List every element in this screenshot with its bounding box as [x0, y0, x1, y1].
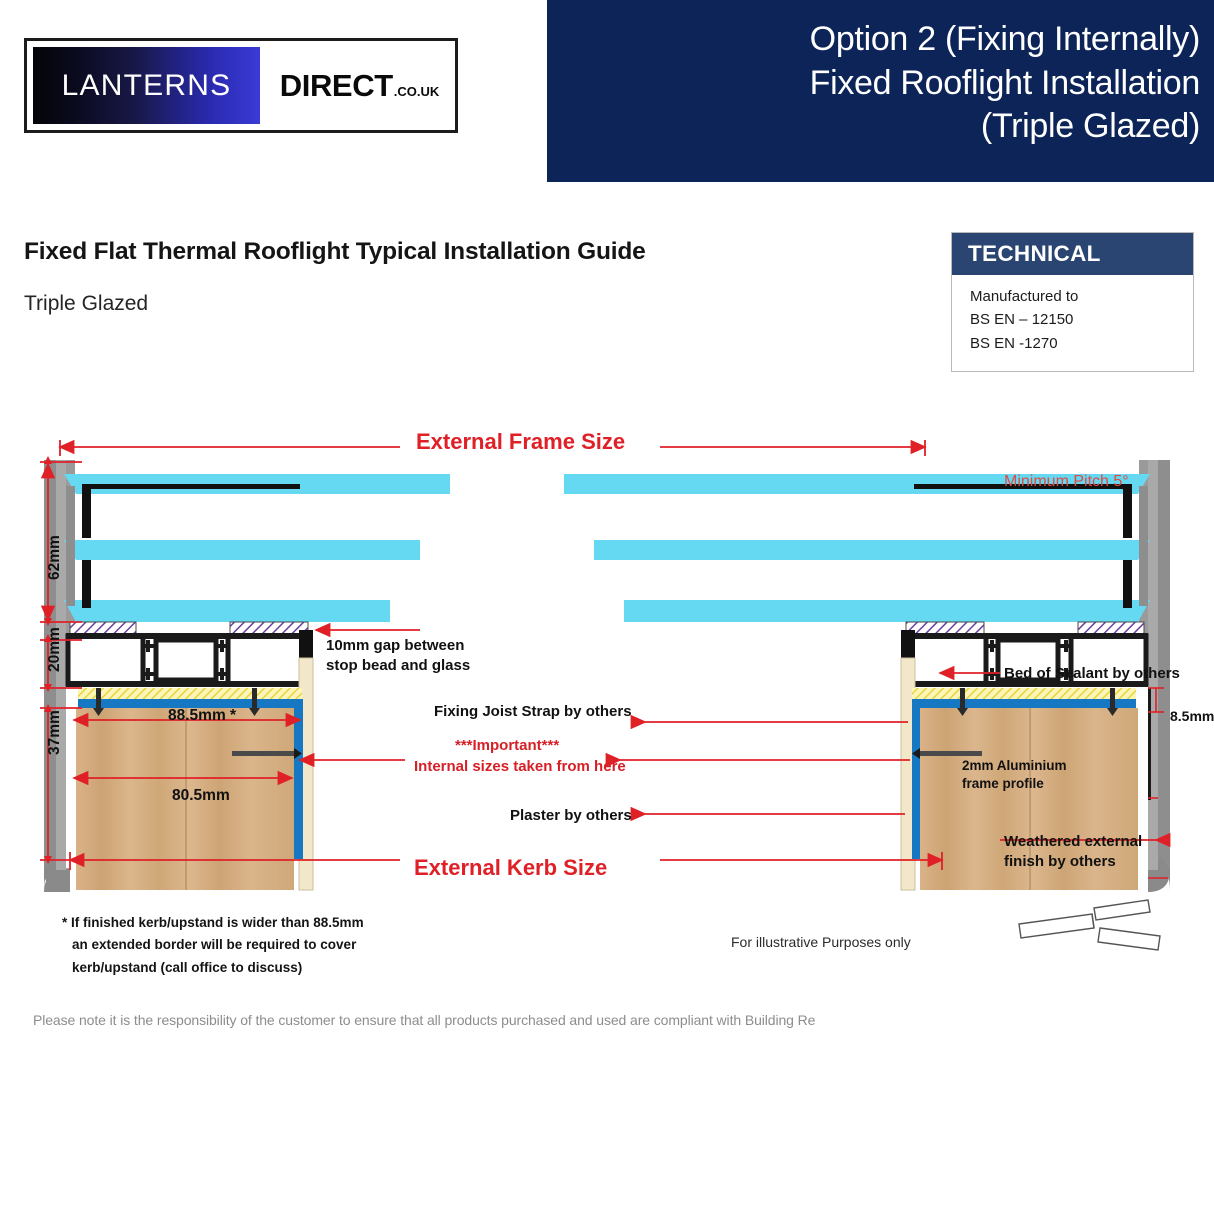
dimension-8-5mm: 8.5mm: [1170, 708, 1214, 724]
callout-important-line2: Internal sizes taken from here: [414, 757, 626, 777]
technical-line-1: Manufactured to: [970, 285, 1193, 308]
minimum-pitch-label: Minimum Pitch 5°: [1004, 473, 1129, 491]
kerb-note-line3: kerb/upstand (call office to discuss): [62, 957, 364, 979]
minimum-pitch-icon: [1019, 900, 1160, 950]
callout-bed-of-sealant: Bed of Sealant by others: [1004, 664, 1180, 684]
footer-compliance-note: Please note it is the responsibility of …: [33, 1012, 815, 1028]
logo-wordmark-left: LANTERNS: [33, 47, 260, 124]
technical-line-2: BS EN – 12150: [970, 308, 1193, 331]
technical-box: TECHNICAL Manufactured to BS EN – 12150 …: [951, 232, 1194, 372]
technical-box-body: Manufactured to BS EN – 12150 BS EN -127…: [952, 275, 1193, 355]
callout-2mm-aluminium-line2: frame profile: [962, 775, 1067, 793]
kerb-note-line1: * If finished kerb/upstand is wider than…: [62, 912, 364, 934]
logo-wordmark-right: DIRECT.CO.UK: [260, 47, 455, 124]
callout-2mm-aluminium-line1: 2mm Aluminium: [962, 757, 1067, 775]
dimension-20mm: 20mm: [46, 627, 64, 672]
callout-10mm-gap: 10mm gap between stop bead and glass: [326, 636, 470, 676]
logo-direct-text: DIRECT: [280, 68, 393, 104]
page-title: Fixed Flat Thermal Rooflight Typical Ins…: [24, 238, 646, 266]
dimension-62mm: 62mm: [46, 535, 64, 580]
page-header: LANTERNS DIRECT.CO.UK Option 2 (Fixing I…: [0, 0, 1214, 190]
technical-heading: TECHNICAL: [968, 241, 1101, 267]
callout-important-line1: ***Important***: [455, 736, 559, 756]
callout-weathered-line1: Weathered external: [1004, 832, 1142, 852]
dimension-37mm: 37mm: [46, 710, 64, 755]
header-banner: Option 2 (Fixing Internally) Fixed Roofl…: [547, 0, 1214, 182]
kerb-width-note: * If finished kerb/upstand is wider than…: [62, 912, 364, 979]
callout-10mm-gap-line1: 10mm gap between: [326, 636, 470, 656]
callout-weathered-external-finish: Weathered external finish by others: [1004, 832, 1142, 872]
external-frame-size-label: External Frame Size: [416, 429, 625, 455]
brand-logo[interactable]: LANTERNS DIRECT.CO.UK: [24, 38, 458, 133]
illustrative-purposes-note: For illustrative Purposes only: [731, 934, 911, 950]
banner-line-1: Option 2 (Fixing Internally): [810, 18, 1200, 62]
banner-line-3: (Triple Glazed): [810, 105, 1200, 149]
logo-lanterns-text: LANTERNS: [62, 69, 232, 103]
logo-tld-text: .CO.UK: [394, 84, 440, 99]
callout-2mm-aluminium: 2mm Aluminium frame profile: [962, 757, 1067, 793]
technical-box-header: TECHNICAL: [952, 233, 1193, 275]
header-banner-text: Option 2 (Fixing Internally) Fixed Roofl…: [810, 18, 1200, 149]
callout-weathered-line2: finish by others: [1004, 852, 1142, 872]
kerb-note-line2: an extended border will be required to c…: [62, 934, 364, 956]
callout-plaster-by-others: Plaster by others: [510, 806, 632, 826]
dimension-80-5mm: 80.5mm: [172, 787, 230, 805]
external-kerb-size-label: External Kerb Size: [414, 855, 607, 881]
dimension-88-5mm: 88.5mm *: [168, 707, 236, 725]
page-subtitle: Triple Glazed: [24, 292, 148, 316]
banner-line-2: Fixed Rooflight Installation: [810, 62, 1200, 106]
callout-10mm-gap-line2: stop bead and glass: [326, 656, 470, 676]
callout-fixing-joist-strap: Fixing Joist Strap by others: [434, 702, 632, 722]
technical-line-3: BS EN -1270: [970, 332, 1193, 355]
